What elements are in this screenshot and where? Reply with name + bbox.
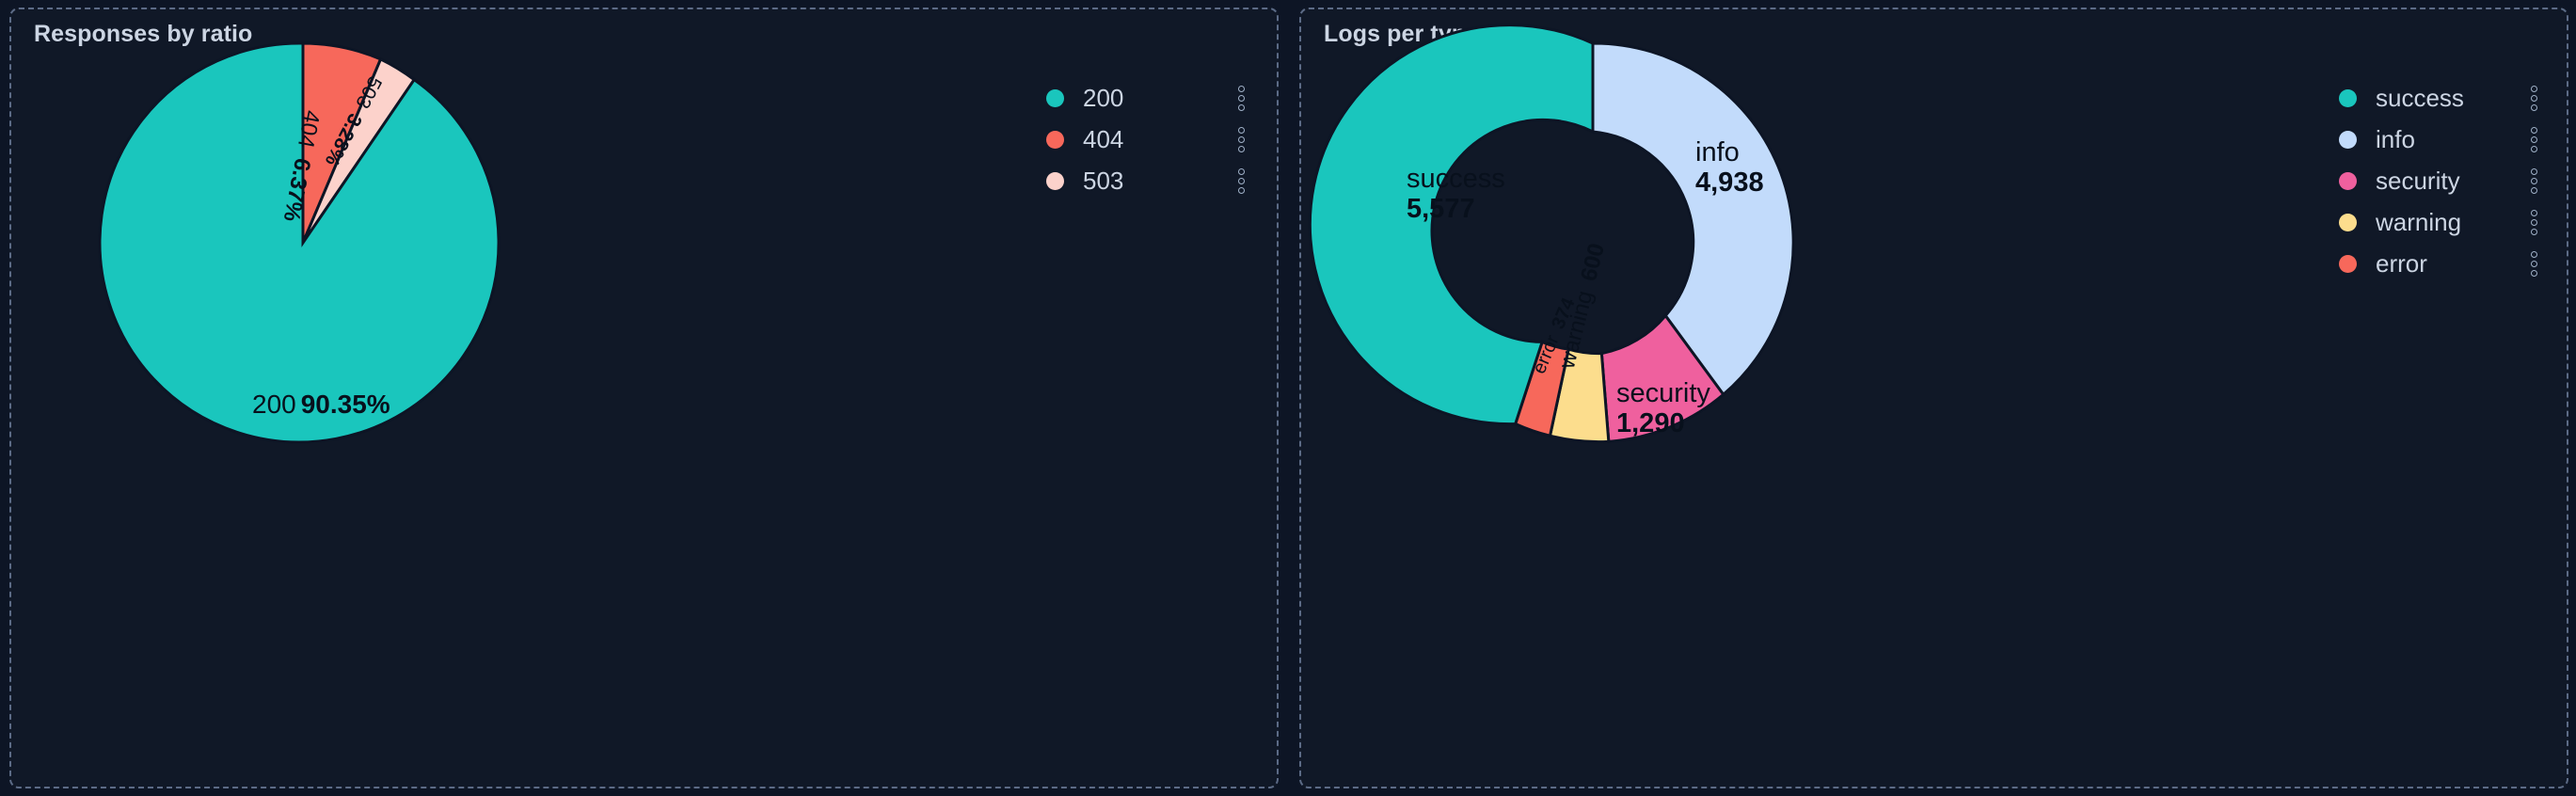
kebab-menu-icon[interactable] <box>2526 209 2541 235</box>
legend-item[interactable]: info <box>2332 119 2568 160</box>
legend-item[interactable]: 200 <box>1040 77 1275 119</box>
kebab-menu-icon[interactable] <box>2526 126 2541 152</box>
legend-item-label: 503 <box>1083 167 1123 196</box>
legend-color-swatch <box>1046 172 1064 190</box>
legend-item-label: success <box>2376 84 2464 113</box>
dashboard: Responses by ratio 404 6.37% 503 3.28% <box>0 0 2576 796</box>
kebab-menu-icon[interactable] <box>2526 250 2541 277</box>
kebab-menu-icon[interactable] <box>2526 167 2541 194</box>
kebab-menu-icon[interactable] <box>1233 85 1248 111</box>
legend-color-swatch <box>1046 131 1064 149</box>
legend-item-label: error <box>2376 249 2427 279</box>
legend-item[interactable]: security <box>2332 160 2568 201</box>
legend-color-swatch <box>2339 255 2357 273</box>
legend-item[interactable]: warning <box>2332 201 2568 243</box>
legend-item-label: 404 <box>1083 125 1123 154</box>
legend-item-label: 200 <box>1083 84 1123 113</box>
kebab-menu-icon[interactable] <box>2526 85 2541 111</box>
legend-color-swatch <box>2339 214 2357 231</box>
legend-item-label: warning <box>2376 208 2461 237</box>
kebab-menu-icon[interactable] <box>1233 126 1248 152</box>
legend-color-swatch <box>1046 89 1064 107</box>
legend-color-swatch <box>2339 172 2357 190</box>
legend-color-swatch <box>2339 131 2357 149</box>
kebab-menu-icon[interactable] <box>1233 167 1248 194</box>
legend-item-label: security <box>2376 167 2460 196</box>
donut-slice-info[interactable] <box>1593 43 1793 394</box>
legend-color-swatch <box>2339 89 2357 107</box>
legend-item[interactable]: error <box>2332 243 2568 284</box>
legend-logs: success info security warning error <box>2332 77 2568 284</box>
panel-responses-by-ratio: Responses by ratio 404 6.37% 503 3.28% <box>9 8 1279 788</box>
pie-slice-200[interactable] <box>100 43 499 442</box>
legend-item[interactable]: success <box>2332 77 2568 119</box>
legend-responses: 200 404 503 <box>1040 77 1275 201</box>
legend-item-label: info <box>2376 125 2415 154</box>
panel-logs-per-type: Logs per type success 5,577 <box>1299 8 2568 788</box>
legend-item[interactable]: 404 <box>1040 119 1275 160</box>
legend-item[interactable]: 503 <box>1040 160 1275 201</box>
